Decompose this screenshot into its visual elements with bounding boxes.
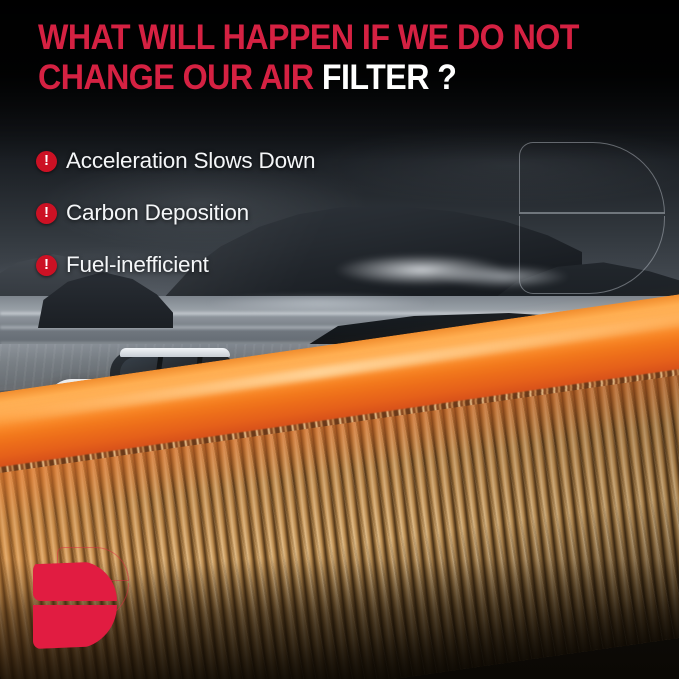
list-item-label: Carbon Deposition xyxy=(66,200,249,226)
list-item: ! Carbon Deposition xyxy=(36,187,456,239)
symptom-list: ! Acceleration Slows Down ! Carbon Depos… xyxy=(36,135,456,291)
brand-logo xyxy=(33,561,119,649)
headline-line-2: CHANGE OUR AIR FILTER ? xyxy=(38,58,599,98)
headline-line-2-white-text: FILTER ? xyxy=(322,58,457,97)
list-item: ! Fuel-inefficient xyxy=(36,239,456,291)
exclamation-circle-icon: ! xyxy=(36,203,57,224)
brand-watermark-logo xyxy=(519,142,669,294)
headline-line-1-text: WHAT WILL HAPPEN IF WE DO NOT xyxy=(38,18,579,57)
exclamation-circle-icon: ! xyxy=(36,255,57,276)
page-title: WHAT WILL HAPPEN IF WE DO NOT CHANGE OUR… xyxy=(38,18,599,98)
list-item-label: Acceleration Slows Down xyxy=(66,148,315,174)
exclamation-circle-icon: ! xyxy=(36,151,57,172)
low-mist xyxy=(170,286,470,320)
promo-image: WHAT WILL HAPPEN IF WE DO NOT CHANGE OUR… xyxy=(0,0,679,679)
list-item: ! Acceleration Slows Down xyxy=(36,135,456,187)
exclamation-glyph: ! xyxy=(44,205,49,220)
headline-line-1: WHAT WILL HAPPEN IF WE DO NOT xyxy=(38,18,599,58)
exclamation-glyph: ! xyxy=(44,153,49,168)
exclamation-glyph: ! xyxy=(44,257,49,272)
headline-line-2-red-text: CHANGE OUR AIR xyxy=(38,58,314,97)
list-item-label: Fuel-inefficient xyxy=(66,252,209,278)
